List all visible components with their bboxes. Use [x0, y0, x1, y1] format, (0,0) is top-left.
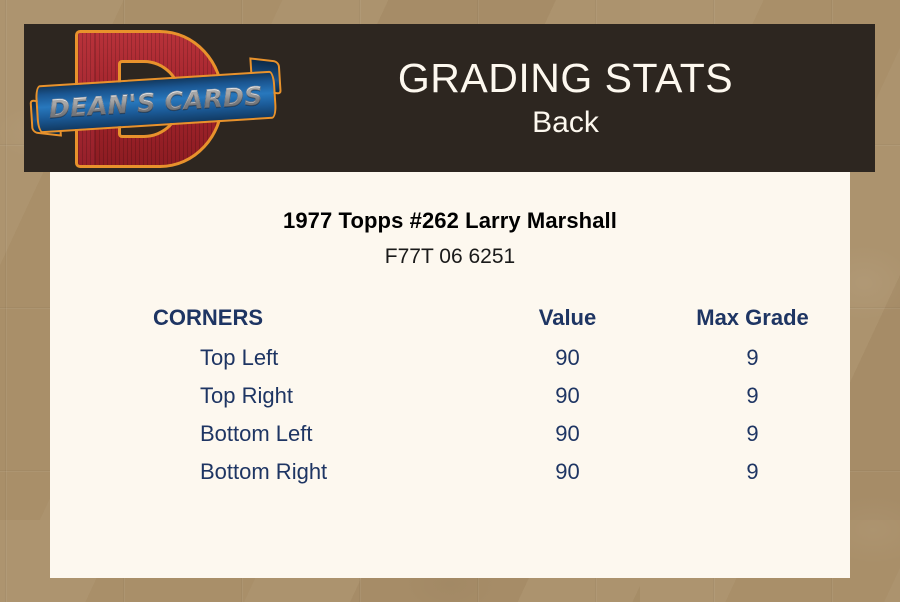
grading-stats-table: CORNERS Value Max Grade Top Left 90 9 To…	[50, 305, 850, 491]
row-max-grade: 9	[655, 339, 850, 377]
table-row: Top Right 90 9	[50, 377, 850, 415]
column-header-corners: CORNERS	[50, 305, 480, 339]
row-value: 90	[480, 453, 655, 491]
page-subtitle: Back	[286, 104, 845, 142]
page-title: GRADING STATS	[286, 54, 845, 102]
page-header: DEAN'S CARDS GRADING STATS Back	[24, 24, 875, 172]
column-header-max-grade: Max Grade	[655, 305, 850, 339]
row-label: Bottom Left	[50, 415, 480, 453]
header-title-block: GRADING STATS Back	[286, 54, 875, 142]
column-header-value: Value	[480, 305, 655, 339]
row-label: Top Left	[50, 339, 480, 377]
row-max-grade: 9	[655, 453, 850, 491]
row-max-grade: 9	[655, 415, 850, 453]
table-header-row: CORNERS Value Max Grade	[50, 305, 850, 339]
card-serial-number: F77T 06 6251	[50, 245, 850, 269]
row-value: 90	[480, 339, 655, 377]
card-title: 1977 Topps #262 Larry Marshall	[50, 208, 850, 234]
row-max-grade: 9	[655, 377, 850, 415]
logo-ribbon-text: DEAN'S CARDS	[29, 70, 284, 134]
deans-cards-logo[interactable]: DEAN'S CARDS	[24, 24, 286, 172]
row-label: Top Right	[50, 377, 480, 415]
row-label: Bottom Right	[50, 453, 480, 491]
table-row: Top Left 90 9	[50, 339, 850, 377]
table-body: Top Left 90 9 Top Right 90 9 Bottom Left…	[50, 339, 850, 491]
logo-ribbon-icon: DEAN'S CARDS	[28, 66, 283, 140]
table-row: Bottom Right 90 9	[50, 453, 850, 491]
row-value: 90	[480, 415, 655, 453]
table-row: Bottom Left 90 9	[50, 415, 850, 453]
row-value: 90	[480, 377, 655, 415]
grading-stats-panel: 1977 Topps #262 Larry Marshall F77T 06 6…	[50, 172, 850, 578]
